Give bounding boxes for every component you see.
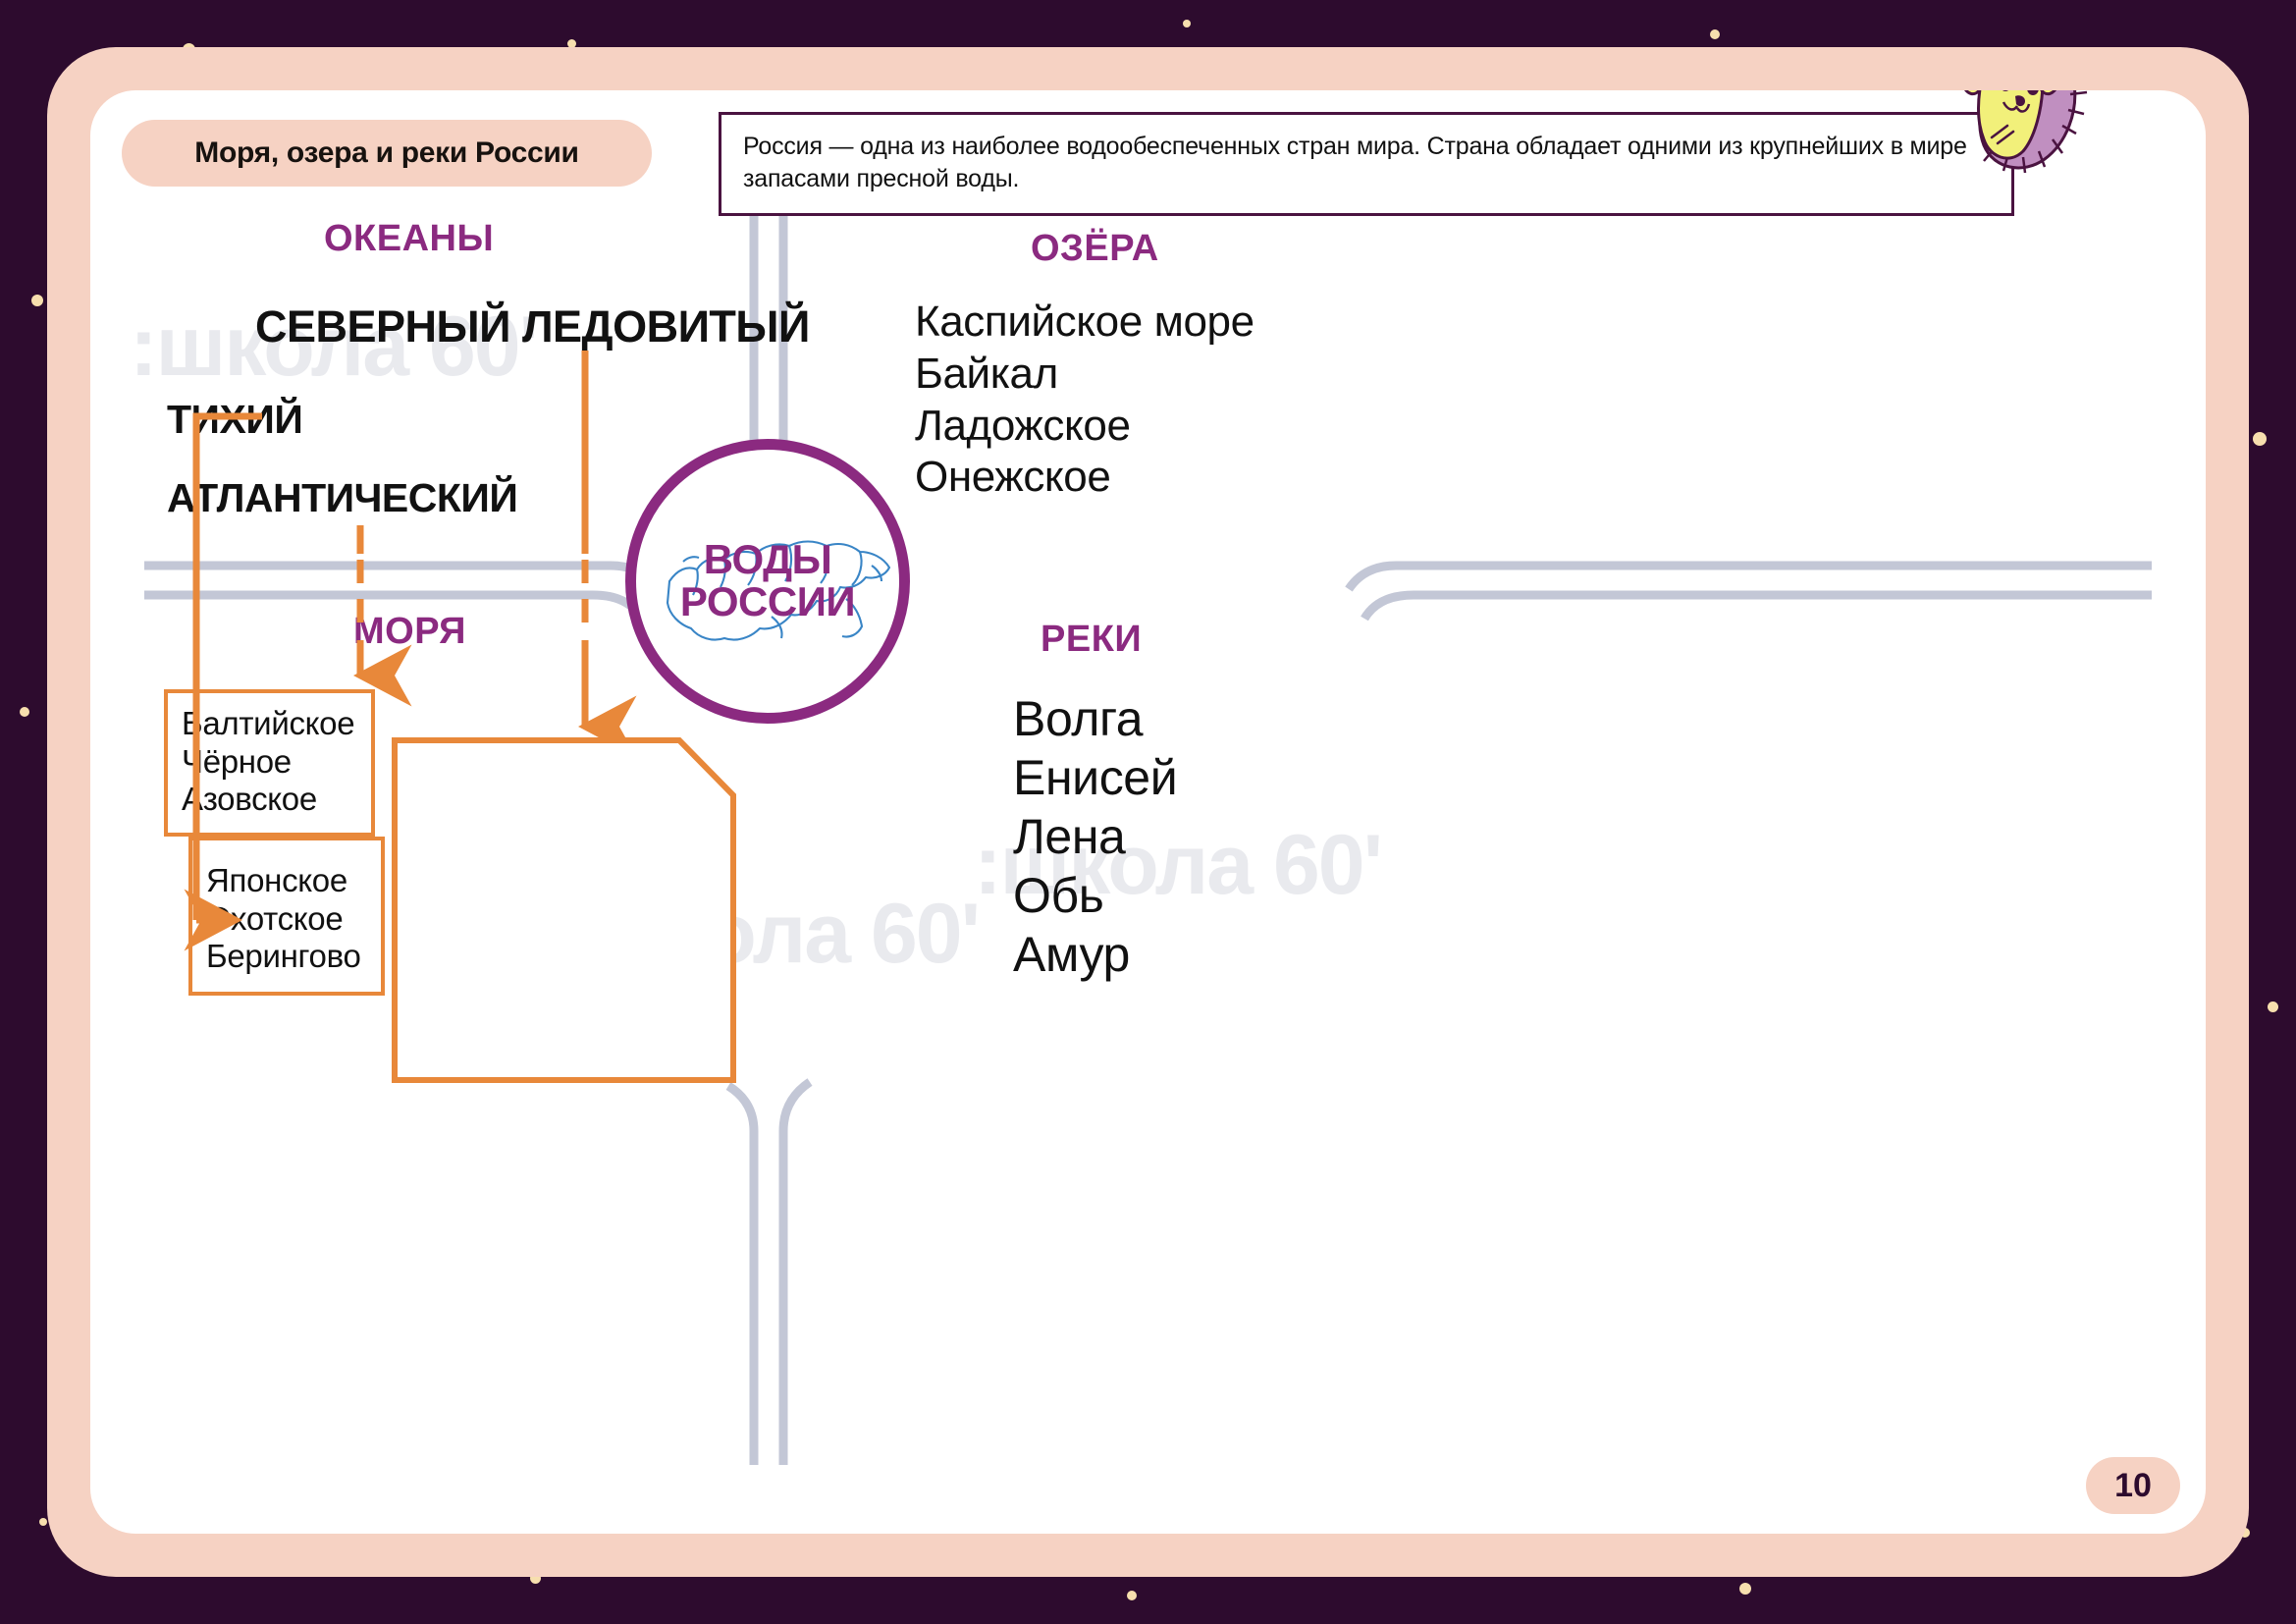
ocean-pacific-label: ТИХИЙ	[167, 397, 302, 443]
list-item: Каспийское море	[915, 297, 1255, 349]
list-item: Белое	[424, 784, 728, 822]
page-title: Моря, озера и реки России	[122, 120, 652, 187]
sea-box-arctic: Белое Баренцево Карское Лаптевых Восточн…	[395, 738, 738, 1033]
sea-box-atlantic: Балтийское Чёрное Азовское	[164, 689, 375, 837]
sea-box-pacific: Японское Охотское Берингово	[188, 837, 385, 996]
info-box: Россия — одна из наиболее водообеспеченн…	[719, 112, 2014, 216]
hedgehog-icon	[1950, 90, 2098, 181]
list-item: Берингово	[206, 938, 371, 976]
list-item: Амур	[1013, 925, 1177, 984]
list-item: Волга	[1013, 689, 1177, 748]
list-item: Ладожское	[915, 401, 1255, 453]
list-item: Байкал	[915, 349, 1255, 401]
list-item: Японское	[206, 862, 371, 900]
heading-rivers: РЕКИ	[1041, 619, 1142, 661]
list-item: Енисей	[1013, 748, 1177, 807]
lakes-list: Каспийское море Байкал Ладожское Онежско…	[915, 297, 1255, 504]
list-item: Лена	[1013, 807, 1177, 866]
rivers-list: Волга Енисей Лена Обь Амур	[1013, 689, 1177, 984]
page-title-text: Моря, озера и реки России	[194, 136, 578, 170]
center-badge-line1: ВОДЫ	[704, 539, 831, 581]
list-item: Чукотское	[424, 973, 728, 1011]
center-badge: ВОДЫ РОССИИ	[625, 439, 910, 724]
heading-seas: МОРЯ	[353, 611, 466, 653]
list-item: Азовское	[182, 781, 361, 819]
list-item: Баренцево	[424, 822, 728, 860]
page-number-badge: 10	[2086, 1457, 2180, 1514]
heading-oceans: ОКЕАНЫ	[324, 218, 494, 260]
info-box-text: Россия — одна из наиболее водообеспеченн…	[743, 131, 1992, 195]
content-card: :школа 60' :школа 60' :школа 60'	[90, 90, 2206, 1534]
list-item: Охотское	[206, 900, 371, 939]
list-item: Балтийское	[182, 705, 361, 743]
list-item: Лаптевых	[424, 897, 728, 936]
page-number-text: 10	[2114, 1467, 2152, 1505]
center-badge-line2: РОССИИ	[680, 581, 855, 623]
list-item: Онежское	[915, 452, 1255, 504]
list-item: Чёрное	[182, 743, 361, 782]
ocean-atlantic-label: АТЛАНТИЧЕСКИЙ	[167, 475, 517, 521]
heading-lakes: ОЗЁРА	[1031, 228, 1159, 270]
ocean-arctic-label: СЕВЕРНЫЙ ЛЕДОВИТЫЙ	[255, 301, 810, 352]
list-item: Обь	[1013, 866, 1177, 925]
list-item: Карское	[424, 859, 728, 897]
list-item: Восточно-Сибирское	[424, 935, 728, 973]
